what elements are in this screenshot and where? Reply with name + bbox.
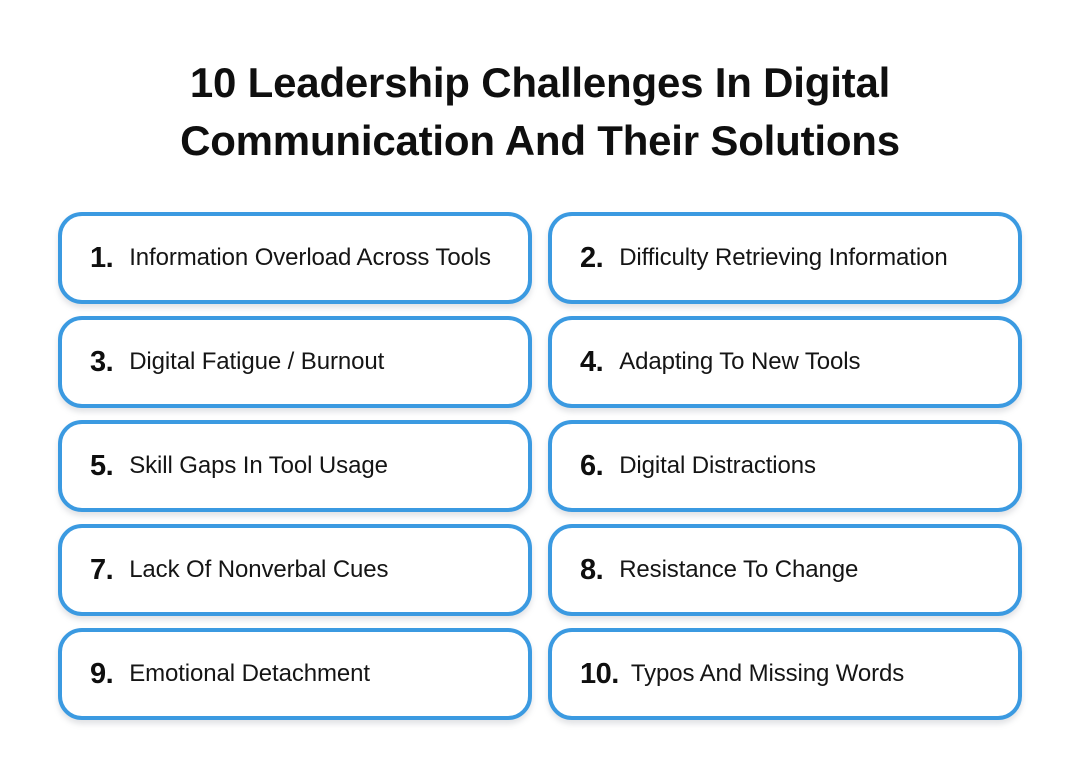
challenge-number: 4. [580, 348, 603, 377]
challenge-card-2[interactable]: 2. Difficulty Retrieving Information [548, 212, 1022, 304]
challenge-card-10[interactable]: 10. Typos And Missing Words [548, 628, 1022, 720]
challenge-card-5[interactable]: 5. Skill Gaps In Tool Usage [58, 420, 532, 512]
page-title-line-2: Communication And Their Solutions [180, 117, 900, 164]
challenge-label: Typos And Missing Words [631, 660, 1000, 688]
challenge-card-1[interactable]: 1. Information Overload Across Tools [58, 212, 532, 304]
challenge-card-7[interactable]: 7. Lack Of Nonverbal Cues [58, 524, 532, 616]
challenge-number: 5. [90, 452, 113, 481]
challenge-card-grid: 1. Information Overload Across Tools 2. … [58, 212, 1022, 720]
challenge-number: 6. [580, 452, 603, 481]
challenge-label: Digital Distractions [619, 452, 1000, 480]
page-title: 10 Leadership Challenges In Digital Comm… [100, 54, 980, 170]
challenge-label: Adapting To New Tools [619, 348, 1000, 376]
page-title-line-1: 10 Leadership Challenges In Digital [190, 59, 890, 106]
challenge-number: 10. [580, 660, 619, 689]
challenge-label: Skill Gaps In Tool Usage [129, 452, 510, 480]
challenge-label: Lack Of Nonverbal Cues [129, 556, 510, 584]
challenge-label: Information Overload Across Tools [129, 244, 510, 272]
challenge-number: 8. [580, 556, 603, 585]
infographic-root: 10 Leadership Challenges In Digital Comm… [0, 0, 1080, 771]
challenge-number: 7. [90, 556, 113, 585]
challenge-number: 2. [580, 244, 603, 273]
challenge-card-4[interactable]: 4. Adapting To New Tools [548, 316, 1022, 408]
challenge-number: 3. [90, 348, 113, 377]
challenge-label: Emotional Detachment [129, 660, 510, 688]
challenge-card-9[interactable]: 9. Emotional Detachment [58, 628, 532, 720]
challenge-number: 1. [90, 244, 113, 273]
challenge-card-8[interactable]: 8. Resistance To Change [548, 524, 1022, 616]
challenge-label: Resistance To Change [619, 556, 1000, 584]
challenge-label: Difficulty Retrieving Information [619, 244, 1000, 272]
challenge-card-6[interactable]: 6. Digital Distractions [548, 420, 1022, 512]
challenge-number: 9. [90, 660, 113, 689]
title-block: 10 Leadership Challenges In Digital Comm… [0, 0, 1080, 170]
challenge-card-3[interactable]: 3. Digital Fatigue / Burnout [58, 316, 532, 408]
challenge-label: Digital Fatigue / Burnout [129, 348, 510, 376]
